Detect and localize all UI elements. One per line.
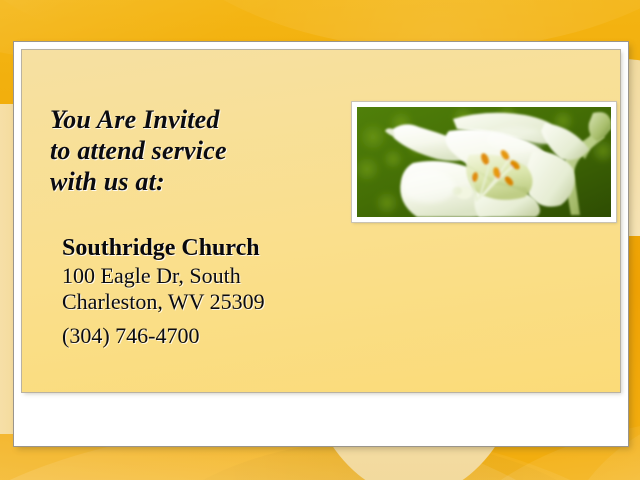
organization-name: Southridge Church: [62, 233, 392, 263]
headline-line-1: You Are Invited: [50, 104, 350, 135]
headline-text-block: You Are Invited to attend service with u…: [50, 104, 350, 197]
headline-line-3: with us at:: [50, 166, 350, 197]
photo-frame: [352, 102, 616, 222]
invitation-slide: You Are Invited to attend service with u…: [0, 0, 640, 480]
city-state-zip: Charleston, WV 25309: [62, 289, 392, 315]
headline-line-2: to attend service: [50, 135, 350, 166]
address-text-block: Southridge Church 100 Eagle Dr, South Ch…: [62, 233, 392, 349]
white-lily-flower-photo: [357, 107, 611, 217]
slide-content-panel: You Are Invited to attend service with u…: [22, 50, 620, 392]
slide-white-frame: You Are Invited to attend service with u…: [14, 42, 628, 446]
lily-photo-illustration: [357, 107, 611, 217]
phone-number: (304) 746-4700: [62, 323, 392, 349]
street-address: 100 Eagle Dr, South: [62, 263, 392, 289]
